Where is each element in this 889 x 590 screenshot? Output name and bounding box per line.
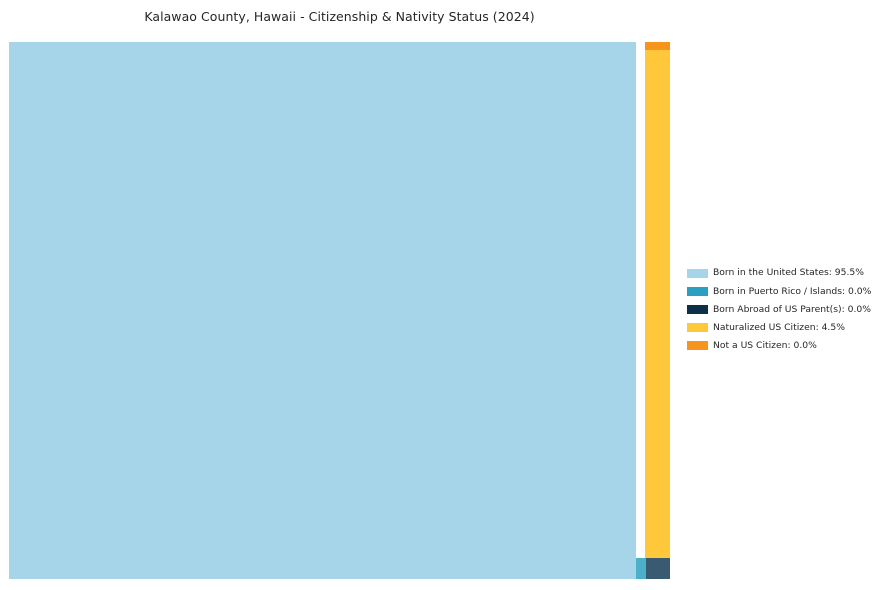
legend-item-label: Naturalized US Citizen: 4.5% xyxy=(713,323,845,332)
legend-item-label: Born in the United States: 95.5% xyxy=(713,268,864,277)
treemap-tile-born-in-puerto-rico-islands[interactable] xyxy=(636,558,646,579)
chart-figure: Kalawao County, Hawaii - Citizenship & N… xyxy=(0,0,889,590)
treemap-tile-not-a-us-citizen[interactable] xyxy=(645,42,670,50)
legend-item-born-in-the-united-states[interactable]: Born in the United States: 95.5% xyxy=(687,264,882,282)
legend-item-label: Born in Puerto Rico / Islands: 0.0% xyxy=(713,287,871,296)
legend-swatch-icon xyxy=(687,305,708,314)
legend-item-label: Not a US Citizen: 0.0% xyxy=(713,341,817,350)
legend-item-born-abroad-of-us-parents[interactable]: Born Abroad of US Parent(s): 0.0% xyxy=(687,300,882,318)
chart-legend: Born in the United States: 95.5% Born in… xyxy=(687,264,882,354)
treemap-tile-naturalized-us-citizen[interactable] xyxy=(645,50,670,558)
legend-item-born-in-puerto-rico-islands[interactable]: Born in Puerto Rico / Islands: 0.0% xyxy=(687,282,882,300)
treemap-tile-born-abroad-of-us-parents[interactable] xyxy=(646,558,670,579)
legend-swatch-icon xyxy=(687,341,708,350)
legend-swatch-icon xyxy=(687,269,708,278)
legend-item-label: Born Abroad of US Parent(s): 0.0% xyxy=(713,305,871,314)
legend-swatch-icon xyxy=(687,287,708,296)
legend-item-naturalized-us-citizen[interactable]: Naturalized US Citizen: 4.5% xyxy=(687,318,882,336)
chart-title: Kalawao County, Hawaii - Citizenship & N… xyxy=(0,9,679,24)
treemap-plot-area xyxy=(9,42,670,579)
legend-swatch-icon xyxy=(687,323,708,332)
legend-item-not-a-us-citizen[interactable]: Not a US Citizen: 0.0% xyxy=(687,336,882,354)
treemap-tile-born-in-the-united-states[interactable] xyxy=(9,42,636,579)
